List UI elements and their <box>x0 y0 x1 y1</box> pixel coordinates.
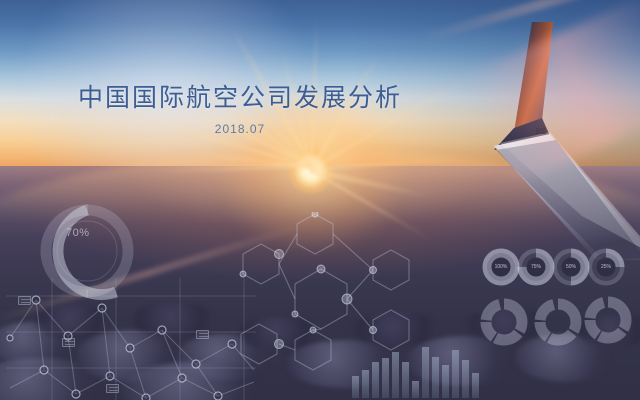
cloud-layer <box>0 300 640 400</box>
sun-icon <box>288 148 334 194</box>
slide-date: 2018.07 <box>0 122 640 136</box>
page-title: 中国国际航空公司发展分析 <box>0 78 640 114</box>
presentation-slide: 中国国际航空公司发展分析 2018.07 70% <box>0 0 640 400</box>
